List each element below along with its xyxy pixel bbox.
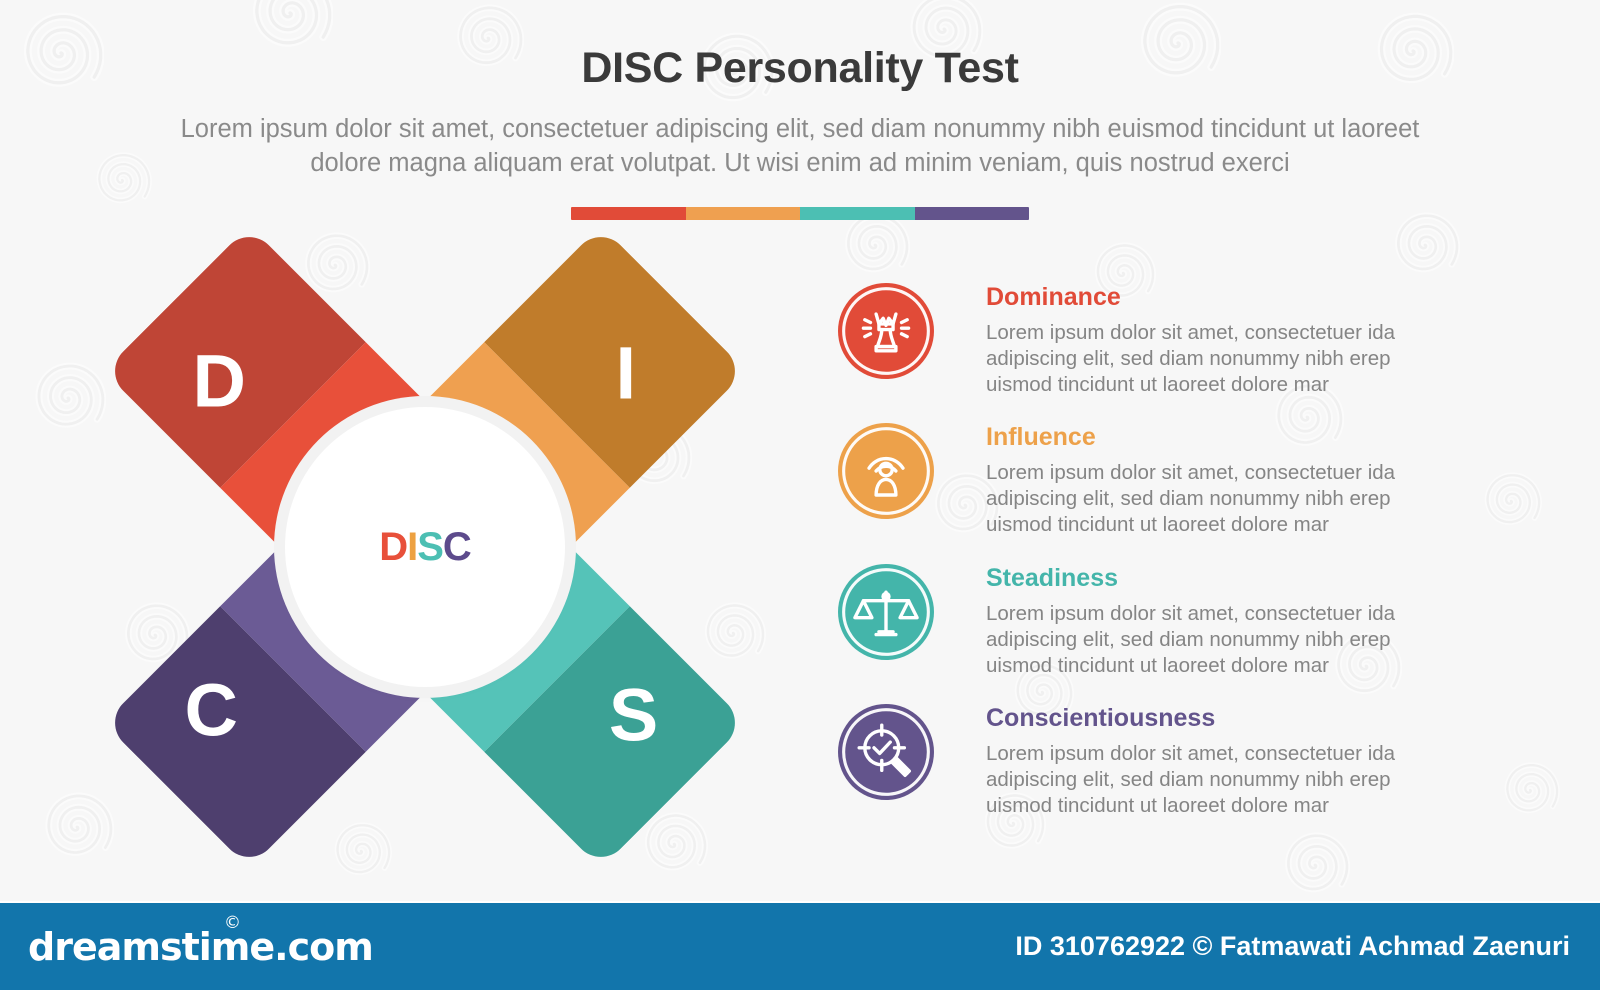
watermark-spiral-icon <box>30 360 106 436</box>
disc-letter-s: S <box>417 525 443 570</box>
trait-item-conscientiousness[interactable]: ConscientiousnessLorem ipsum dolor sit a… <box>838 698 1458 818</box>
watermark-spiral-icon <box>1390 210 1460 280</box>
accent-segment-dominance <box>571 207 686 220</box>
watermark-spiral-icon <box>1480 470 1542 532</box>
arm-letter-d: D <box>193 344 246 418</box>
trait-title: Conscientiousness <box>986 704 1395 733</box>
trait-description: Lorem ipsum dolor sit amet, consectetuer… <box>986 460 1395 537</box>
disc-wordmark: DISC <box>379 525 471 570</box>
arm-letter-i: I <box>616 336 637 410</box>
trait-item-influence[interactable]: InfluenceLorem ipsum dolor sit amet, con… <box>838 417 1458 537</box>
disc-letter-d: D <box>379 525 407 570</box>
dreamstime-logo[interactable]: dreamstime.com © <box>28 925 373 969</box>
watermark-spiral-icon <box>840 210 910 280</box>
dreamstime-logo-text: dreamstime.com <box>28 925 373 969</box>
balance-scale-icon <box>838 564 934 660</box>
trait-text-block: SteadinessLorem ipsum dolor sit amet, co… <box>986 558 1395 678</box>
arm-letter-s: S <box>609 679 658 753</box>
disc-x-diagram: D I S C DISC <box>140 262 710 832</box>
trait-description: Lorem ipsum dolor sit amet, consectetuer… <box>986 741 1395 818</box>
disc-letter-c: C <box>443 525 471 570</box>
accent-segment-influence <box>686 207 801 220</box>
accent-segment-steadiness <box>800 207 915 220</box>
arm-letter-c: C <box>184 673 237 747</box>
footer-bar: dreamstime.com © ID 310762922 © Fatmawat… <box>0 903 1600 990</box>
accent-segment-conscientiousness <box>915 207 1030 220</box>
trait-description: Lorem ipsum dolor sit amet, consectetuer… <box>986 601 1395 678</box>
page-subtitle: Lorem ipsum dolor sit amet, consectetuer… <box>150 113 1450 181</box>
trait-item-steadiness[interactable]: SteadinessLorem ipsum dolor sit amet, co… <box>838 558 1458 678</box>
watermark-spiral-icon <box>1280 830 1350 900</box>
watermark-spiral-icon <box>40 790 114 864</box>
magnifier-target-check-icon <box>838 704 934 800</box>
accent-color-bar <box>571 207 1029 220</box>
trait-text-block: InfluenceLorem ipsum dolor sit amet, con… <box>986 417 1395 537</box>
disc-trait-list: DominanceLorem ipsum dolor sit amet, con… <box>838 277 1458 839</box>
trait-description: Lorem ipsum dolor sit amet, consectetuer… <box>986 320 1395 397</box>
chess-queen-icon <box>838 283 934 379</box>
trait-title: Influence <box>986 423 1395 452</box>
disc-letter-i: I <box>407 525 417 570</box>
trait-item-dominance[interactable]: DominanceLorem ipsum dolor sit amet, con… <box>838 277 1458 397</box>
trait-title: Steadiness <box>986 564 1395 593</box>
page-title: DISC Personality Test <box>0 44 1600 93</box>
broadcast-person-icon <box>838 423 934 519</box>
diagram-center-badge: DISC <box>285 407 565 687</box>
trait-text-block: DominanceLorem ipsum dolor sit amet, con… <box>986 277 1395 397</box>
image-credit: ID 310762922 © Fatmawati Achmad Zaenuri <box>1015 931 1570 962</box>
watermark-spiral-icon <box>1500 760 1560 820</box>
trait-title: Dominance <box>986 283 1395 312</box>
trait-text-block: ConscientiousnessLorem ipsum dolor sit a… <box>986 698 1395 818</box>
registered-mark-icon: © <box>224 913 240 933</box>
header: DISC Personality Test Lorem ipsum dolor … <box>0 0 1600 220</box>
